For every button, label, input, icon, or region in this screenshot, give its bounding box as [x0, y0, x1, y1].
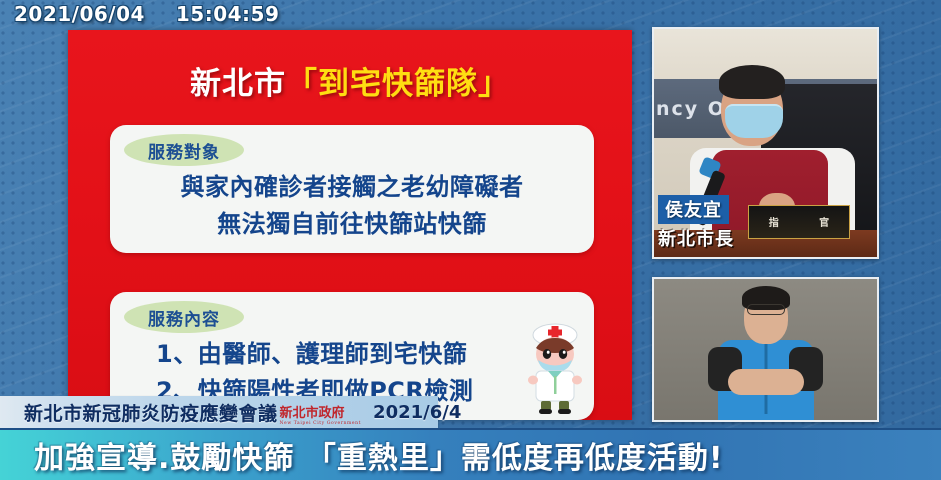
info-bar: 新北市新冠肺炎防疫應變會議 新北市政府 New Taipei City Gove…	[0, 396, 438, 429]
slide-title-prefix: 新北市	[190, 66, 286, 102]
glasses-icon	[747, 304, 785, 315]
slide-title-bracket-close: 」	[478, 66, 510, 102]
interpreter-hands	[728, 369, 804, 395]
presentation-slide: 新北市「到宅快篩隊」 服務對象 與家內確診者接觸之老幼障礙者 無法獨自前往快篩站…	[68, 30, 632, 420]
card-pill-label: 服務內容	[124, 301, 244, 333]
info-bar-title: 新北市新冠肺炎防疫應變會議	[24, 399, 278, 426]
slide-title-bracket-open: 「	[286, 66, 318, 102]
nameplate-char-right: 官	[819, 214, 829, 229]
logo-sub-text: New Taipei City Government	[280, 421, 362, 426]
card-pill-label: 服務對象	[124, 134, 244, 166]
overlay-time: 15:04:59	[176, 2, 280, 26]
slide-title-highlight: 到宅快篩隊	[318, 66, 478, 102]
headline-text: 加強宣導.鼓勵快篩 「重熱里」需低度再低度活動!	[34, 433, 724, 477]
slide-title: 新北市「到宅快篩隊」	[68, 58, 632, 103]
video-feed-sign-language	[652, 277, 879, 422]
city-government-logo: 新北市政府 New Taipei City Government	[280, 402, 362, 426]
broadcast-screen: 2021/06/04 15:04:59 新北市「到宅快篩隊」 服務對象 與家內確…	[0, 0, 941, 480]
nurse-cartoon-icon	[522, 320, 588, 416]
logo-main-text: 新北市政府	[280, 406, 345, 421]
sign-language-background	[654, 279, 877, 420]
timestamp-overlay: 2021/06/04 15:04:59	[14, 2, 279, 26]
nameplate-char-left: 指	[769, 214, 779, 229]
slide-card-service-target: 服務對象 與家內確診者接觸之老幼障礙者 無法獨自前往快篩站快篩	[110, 125, 594, 253]
speaker-name: 侯友宜	[658, 195, 729, 224]
card-line: 無法獨自前往快篩站快篩	[110, 206, 594, 243]
speaker-title: 新北市長	[658, 225, 734, 251]
info-bar-date: 2021/6/4	[373, 402, 461, 423]
face-mask-icon	[725, 104, 783, 138]
card-body: 與家內確診者接觸之老幼障礙者 無法獨自前往快篩站快篩	[110, 169, 594, 243]
headline-ticker: 加強宣導.鼓勵快篩 「重熱里」需低度再低度活動!	[0, 428, 941, 480]
desk-nameplate: 指 官	[748, 205, 851, 239]
lower-third-caption: 侯友宜 新北市長	[658, 195, 734, 251]
card-line: 與家內確診者接觸之老幼障礙者	[110, 169, 594, 206]
overlay-date: 2021/06/04	[14, 2, 145, 26]
speaker-hair	[719, 65, 785, 99]
nameplate-text: 指 官	[749, 206, 850, 238]
video-feed-mayor: ncy Operation 指 官 侯友宜 新北市長	[652, 27, 879, 259]
